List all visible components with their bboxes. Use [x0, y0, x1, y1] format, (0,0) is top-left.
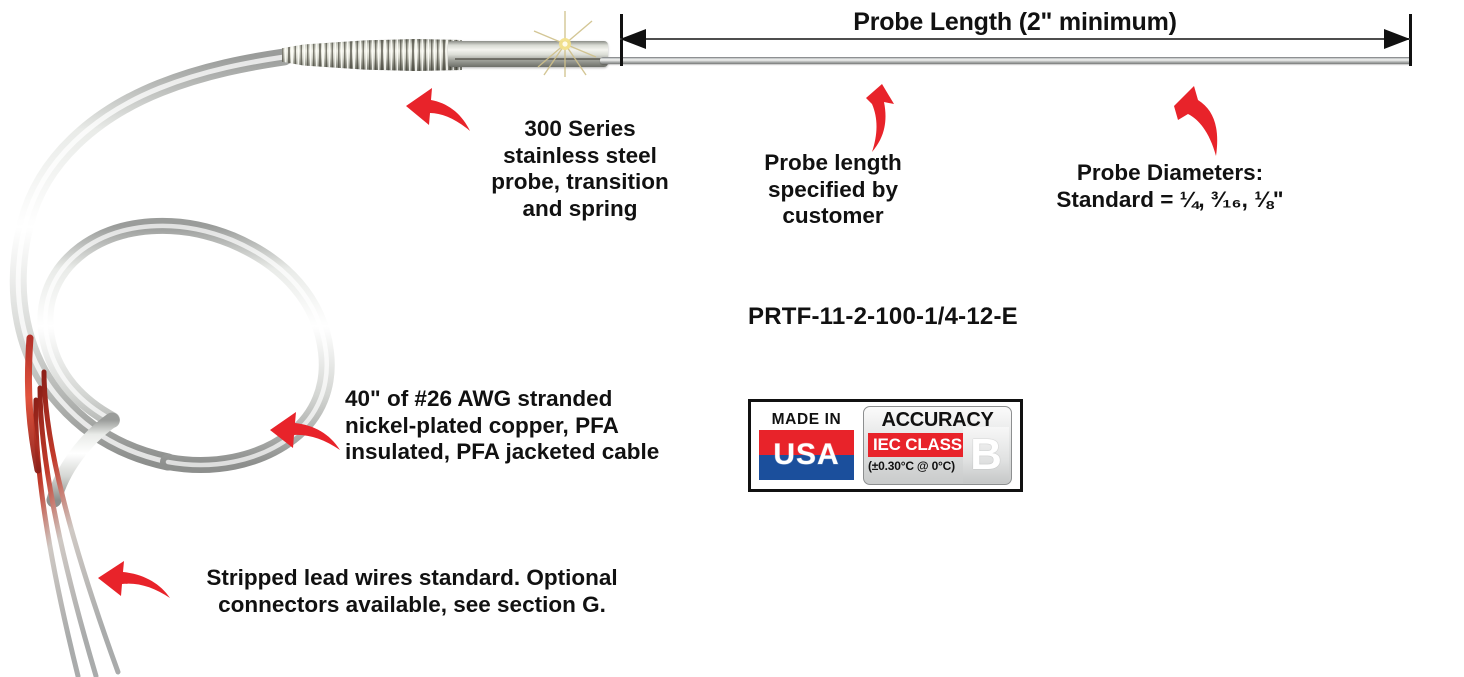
callout-line: nickel-plated copper, PFA — [345, 413, 715, 440]
made-in-label: MADE IN — [772, 411, 842, 428]
callout-line: Stripped lead wires standard. Optional — [177, 565, 647, 592]
accuracy-panel: ACCURACY IEC CLASS (±0.30°C @ 0°C) B — [863, 406, 1012, 485]
product-diagram: Probe Length (2" minimum) 300 Series sta… — [0, 0, 1464, 677]
curved-arrow-up-left-icon — [1168, 84, 1222, 158]
callout-lead-wires: Stripped lead wires standard. Optional c… — [177, 565, 647, 618]
callout-line: connectors available, see section G. — [177, 592, 647, 619]
transition-tube — [448, 41, 608, 67]
callout-line: insulated, PFA jacketed cable — [345, 439, 715, 466]
callout-line: stainless steel — [470, 143, 690, 170]
callout-line: Probe length — [738, 150, 928, 177]
curved-arrow-up-icon — [848, 82, 898, 154]
probe-sheath — [600, 57, 1412, 64]
arrow-right-icon — [1384, 29, 1410, 49]
curved-arrow-left-icon — [94, 558, 174, 608]
callout-line: 40" of #26 AWG stranded — [345, 386, 715, 413]
callout-line: probe, transition — [470, 169, 690, 196]
callout-cable: 40" of #26 AWG stranded nickel-plated co… — [345, 386, 715, 466]
made-in-usa-mark: MADE IN USA — [759, 411, 854, 480]
usa-label: USA — [759, 430, 854, 480]
accuracy-class-label: IEC CLASS — [873, 435, 962, 455]
coil-spring — [282, 38, 462, 72]
callout-line: and spring — [470, 196, 690, 223]
arrow-left-icon — [620, 29, 646, 49]
transition-highlight — [455, 58, 603, 60]
accuracy-grade: B — [963, 427, 1009, 483]
dimension-label: Probe Length (2" minimum) — [620, 8, 1410, 37]
callout-probe-diameters: Probe Diameters: Standard = ¼, ³⁄₁₆, ⅛" — [1040, 160, 1300, 213]
callout-probe-length: Probe length specified by customer — [738, 150, 928, 230]
usa-flag-icon: USA — [759, 430, 854, 480]
part-number: PRTF-11-2-100-1/4-12-E — [748, 303, 1018, 331]
curved-arrow-left-icon — [266, 408, 344, 460]
callout-stainless-steel: 300 Series stainless steel probe, transi… — [470, 116, 690, 222]
callout-line: Standard = ¼, ³⁄₁₆, ⅛" — [1040, 187, 1300, 214]
callout-line: Probe Diameters: — [1040, 160, 1300, 187]
callout-line: specified by — [738, 177, 928, 204]
certification-badge: MADE IN USA ACCURACY IEC CLASS (±0.30°C … — [748, 399, 1023, 492]
curved-arrow-up-left-icon — [398, 86, 474, 142]
dimension-line — [620, 38, 1410, 40]
callout-line: 300 Series — [470, 116, 690, 143]
callout-line: customer — [738, 203, 928, 230]
